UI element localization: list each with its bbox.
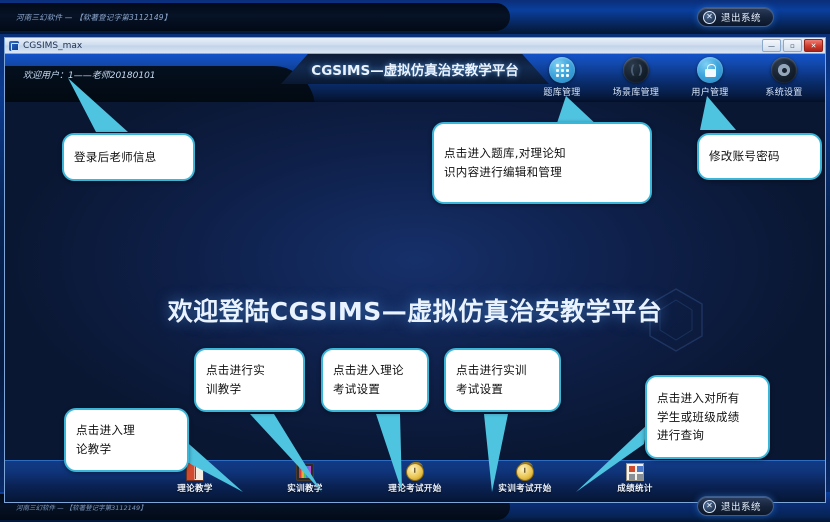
dock-item-practical-exam-start[interactable]: 实训考试开始 xyxy=(492,463,558,494)
nav-item-scene-library[interactable]: ( ) 场景库管理 xyxy=(605,57,667,98)
dock-item-theory-exam-start[interactable]: 理论考试开始 xyxy=(382,463,448,494)
close-button[interactable]: ✕ xyxy=(804,39,823,52)
nav-item-system-settings[interactable]: 系统设置 xyxy=(753,57,815,98)
callout-practical-teaching: 点击进行实 训教学 xyxy=(194,348,305,412)
dock-label-practical-teaching: 实训教学 xyxy=(287,482,323,494)
callout-line: 考试设置 xyxy=(456,380,549,399)
nav-item-user-management[interactable]: 用户管理 xyxy=(679,57,741,98)
exit-system-label-top: 退出系统 xyxy=(721,10,761,24)
callout-line: 修改账号密码 xyxy=(709,147,810,166)
dock-label-theory-teaching: 理论教学 xyxy=(177,482,213,494)
callout-line: 进行查询 xyxy=(657,426,758,445)
callout-line: 学生或班级成绩 xyxy=(657,408,758,427)
app-icon xyxy=(9,41,19,51)
app-root: 河南三幻软件 — 【软著登记字第3112149】 ✕ 退出系统 河南三幻软件 —… xyxy=(0,0,830,522)
nav-label-system-settings: 系统设置 xyxy=(765,85,802,98)
lock-icon xyxy=(697,57,723,83)
callout-teacher-info: 登录后老师信息 xyxy=(62,133,195,181)
clock-icon xyxy=(516,463,534,481)
callout-line: 考试设置 xyxy=(333,380,417,399)
dock-label-practical-exam-start: 实训考试开始 xyxy=(498,482,551,494)
dock-item-practical-teaching[interactable]: 实训教学 xyxy=(272,463,338,494)
outer-brand-bottom: 河南三幻软件 — 【软著登记字第3112149】 xyxy=(16,502,147,512)
app-header: 欢迎用户：1——老师20180101 CGSIMS—虚拟仿真治安教学平台 题库管… xyxy=(5,54,825,102)
window-controls: — ▫ ✕ xyxy=(762,39,823,52)
callout-line: 点击进入对所有 xyxy=(657,389,758,408)
nav-item-question-bank[interactable]: 题库管理 xyxy=(531,57,593,98)
tv-icon xyxy=(296,463,314,481)
welcome-user-text: 欢迎用户：1——老师20180101 xyxy=(23,68,156,81)
close-circle-icon: ✕ xyxy=(703,500,716,513)
exit-system-button-bottom[interactable]: ✕ 退出系统 xyxy=(697,496,774,516)
exit-system-label-bottom: 退出系统 xyxy=(721,499,761,513)
callout-practical-exam-setting: 点击进行实训 考试设置 xyxy=(444,348,561,412)
callout-line: 登录后老师信息 xyxy=(74,148,183,167)
dock-label-score-statistics: 成绩统计 xyxy=(617,482,653,494)
main-welcome-heading: 欢迎登陆CGSIMS—虚拟仿真治安教学平台 xyxy=(5,292,825,328)
outer-brand-top: 河南三幻软件 — 【软著登记字第3112149】 xyxy=(16,12,171,23)
callout-line: 识内容进行编辑和管理 xyxy=(444,163,640,182)
callout-line: 点击进入理 xyxy=(76,421,177,440)
callout-line: 训教学 xyxy=(206,380,293,399)
callout-line: 论教学 xyxy=(76,440,177,459)
dock-label-theory-exam-start: 理论考试开始 xyxy=(388,482,441,494)
book-icon xyxy=(186,463,204,481)
header-title-plate: CGSIMS—虚拟仿真治安教学平台 xyxy=(281,54,549,84)
dock-item-score-statistics[interactable]: 成绩统计 xyxy=(602,463,668,494)
maximize-button[interactable]: ▫ xyxy=(783,39,802,52)
clock-icon xyxy=(406,463,424,481)
exit-system-button-top[interactable]: ✕ 退出系统 xyxy=(697,7,774,27)
window-title-text: CGSIMS_max xyxy=(23,41,82,51)
header-nav: 题库管理 ( ) 场景库管理 用户管理 xyxy=(531,57,815,98)
callout-score-query: 点击进入对所有 学生或班级成绩 进行查询 xyxy=(645,375,770,459)
callout-change-password: 修改账号密码 xyxy=(697,133,822,180)
document-icon xyxy=(626,463,644,481)
nav-label-scene-library: 场景库管理 xyxy=(613,85,660,98)
page-title: CGSIMS—虚拟仿真治安教学平台 xyxy=(311,59,518,79)
callout-question-bank: 点击进入题库,对理论知 识内容进行编辑和管理 xyxy=(432,122,652,204)
grid-icon xyxy=(549,57,575,83)
gear-icon xyxy=(771,57,797,83)
window-title-bar[interactable]: CGSIMS_max — ▫ ✕ xyxy=(5,38,825,54)
brackets-icon: ( ) xyxy=(623,57,649,83)
callout-line: 点击进入理论 xyxy=(333,361,417,380)
minimize-button[interactable]: — xyxy=(762,39,781,52)
callout-theory-exam-setting: 点击进入理论 考试设置 xyxy=(321,348,429,412)
nav-label-question-bank: 题库管理 xyxy=(543,85,580,98)
callout-line: 点击进入题库,对理论知 xyxy=(444,144,640,163)
nav-label-user-management: 用户管理 xyxy=(691,85,728,98)
close-circle-icon: ✕ xyxy=(703,11,716,24)
callout-theory-teaching: 点击进入理 论教学 xyxy=(64,408,189,472)
callout-line: 点击进行实训 xyxy=(456,361,549,380)
callout-line: 点击进行实 xyxy=(206,361,293,380)
